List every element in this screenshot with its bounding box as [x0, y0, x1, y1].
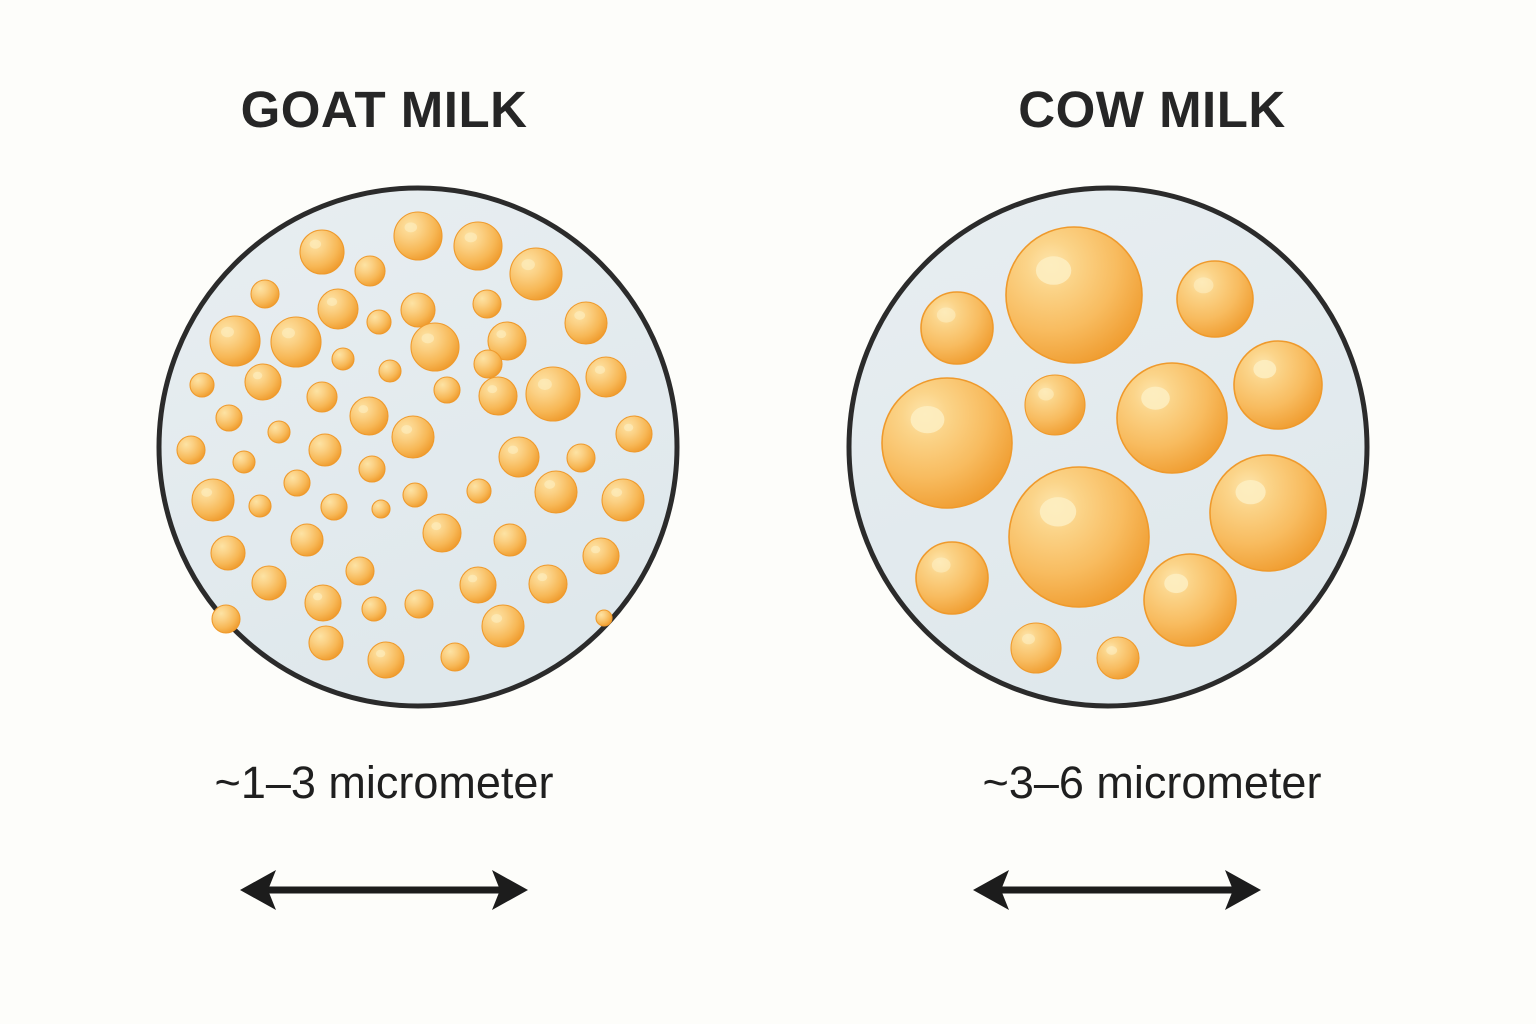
fat-globule [332, 348, 354, 370]
fat-globule [1097, 637, 1139, 679]
fat-globule [372, 500, 390, 518]
dish-goat-milk [0, 183, 768, 713]
size-range-arrow-cow [768, 862, 1536, 918]
fat-globule [434, 377, 460, 403]
fat-globule [499, 437, 539, 477]
fat-globule [916, 542, 988, 614]
globule-highlight [405, 222, 417, 232]
globule-highlight [521, 259, 535, 270]
globule-highlight [253, 372, 262, 380]
fat-globule [460, 567, 496, 603]
fat-globule [565, 302, 607, 344]
globule-highlight [1036, 256, 1071, 285]
fat-globule [423, 514, 461, 552]
fat-globule [268, 421, 290, 443]
fat-globule [245, 364, 281, 400]
globule-highlight [282, 328, 295, 339]
fat-globule [1009, 467, 1149, 607]
globule-highlight [1194, 277, 1214, 293]
panel-goat-milk: GOAT MILK ~1 [0, 0, 768, 1024]
fat-globule [210, 316, 260, 366]
fat-globule [192, 479, 234, 521]
globule-highlight [376, 650, 385, 658]
fat-globule [441, 643, 469, 671]
fat-globule [411, 323, 459, 371]
globule-highlight [431, 522, 441, 530]
fat-globule [355, 256, 385, 286]
fat-globule [401, 293, 435, 327]
size-arrow-goat-wrap [0, 862, 768, 918]
globule-highlight [1038, 388, 1054, 401]
globule-highlight [1106, 646, 1117, 655]
globule-highlight [595, 366, 605, 374]
fat-globule [467, 479, 491, 503]
globule-highlight [401, 425, 412, 434]
globule-highlight [465, 232, 477, 242]
globule-highlight [1236, 480, 1266, 504]
globule-highlight [327, 298, 337, 306]
size-range-arrow-goat [0, 862, 768, 918]
fat-globule [177, 436, 205, 464]
fat-globule [602, 479, 644, 521]
fat-globule [583, 538, 619, 574]
globule-highlight [624, 424, 633, 432]
fat-globule [1234, 341, 1322, 429]
fat-globule [482, 605, 524, 647]
fat-globule [359, 456, 385, 482]
panel-title-goat-milk: GOAT MILK [0, 84, 768, 135]
fat-globule [454, 222, 502, 270]
fat-globule [510, 248, 562, 300]
fat-globule [271, 317, 321, 367]
dish-cow-milk [768, 183, 1536, 713]
fat-globule [403, 483, 427, 507]
fat-globule [567, 444, 595, 472]
globule-highlight [591, 546, 600, 554]
fat-globule [1144, 554, 1236, 646]
fat-globule [190, 373, 214, 397]
fat-globule [249, 495, 271, 517]
fat-globule [1177, 261, 1253, 337]
fat-globule [309, 434, 341, 466]
globule-highlight [537, 573, 547, 581]
fat-globule [405, 590, 433, 618]
fat-globule [305, 585, 341, 621]
fat-globule [586, 357, 626, 397]
fat-globule [526, 367, 580, 421]
globule-highlight [1164, 574, 1188, 593]
fat-globule [318, 289, 358, 329]
figure-canvas: GOAT MILK ~1 [0, 0, 1536, 1024]
globule-diagram-cow-milk [768, 183, 1536, 713]
fat-globule [300, 230, 344, 274]
fat-globule [233, 451, 255, 473]
globule-highlight [1040, 497, 1076, 526]
globule-highlight [508, 446, 518, 454]
fat-globule [1006, 227, 1142, 363]
fat-globule [529, 565, 567, 603]
fat-globule [596, 610, 612, 626]
panel-caption-cow-milk: ~3–6 micrometer [768, 760, 1536, 805]
globule-highlight [310, 239, 321, 248]
fat-globule [474, 350, 502, 378]
globule-highlight [201, 488, 212, 497]
globule-highlight [422, 333, 434, 343]
globule-highlight [544, 480, 555, 489]
globule-highlight [358, 405, 368, 413]
globule-highlight [221, 327, 234, 338]
fat-globule [616, 416, 652, 452]
panel-title-cow-milk: COW MILK [768, 84, 1536, 135]
globule-highlight [313, 593, 322, 601]
fat-globule [882, 378, 1012, 508]
fat-globule [307, 382, 337, 412]
fat-globule [1210, 455, 1326, 571]
fat-globule [368, 642, 404, 678]
fat-globule [392, 416, 434, 458]
globule-diagram-goat-milk [0, 183, 768, 713]
fat-globule [1025, 375, 1085, 435]
fat-globule [1011, 623, 1061, 673]
size-arrow-cow-wrap [768, 862, 1536, 918]
fat-globule [473, 290, 501, 318]
fat-globule [379, 360, 401, 382]
fat-globule [921, 292, 993, 364]
fat-globule [1117, 363, 1227, 473]
fat-globule [251, 280, 279, 308]
fat-globule [362, 597, 386, 621]
fat-globule [212, 605, 240, 633]
fat-globule [350, 397, 388, 435]
fat-globule [479, 377, 517, 415]
globule-highlight [496, 330, 506, 338]
panel-caption-goat-milk: ~1–3 micrometer [0, 760, 768, 805]
fat-globule [291, 524, 323, 556]
fat-globule [309, 626, 343, 660]
fat-globule [252, 566, 286, 600]
globule-highlight [538, 379, 552, 390]
globule-highlight [468, 575, 477, 583]
globule-highlight [491, 614, 502, 623]
fat-globule [211, 536, 245, 570]
fat-globule [321, 494, 347, 520]
fat-globule [367, 310, 391, 334]
globule-highlight [487, 385, 497, 393]
globule-highlight [1141, 387, 1170, 410]
globule-highlight [937, 307, 956, 322]
fat-globule [346, 557, 374, 585]
globule-highlight [1253, 360, 1276, 378]
fat-globule [284, 470, 310, 496]
fat-globule [535, 471, 577, 513]
panel-cow-milk: COW MILK ~3– [768, 0, 1536, 1024]
globule-highlight [611, 488, 622, 497]
fat-globule [394, 212, 442, 260]
globule-highlight [1022, 634, 1035, 645]
globule-highlight [911, 406, 945, 433]
globule-highlight [932, 557, 951, 572]
fat-globule [494, 524, 526, 556]
fat-globule [216, 405, 242, 431]
globule-highlight [574, 311, 585, 320]
